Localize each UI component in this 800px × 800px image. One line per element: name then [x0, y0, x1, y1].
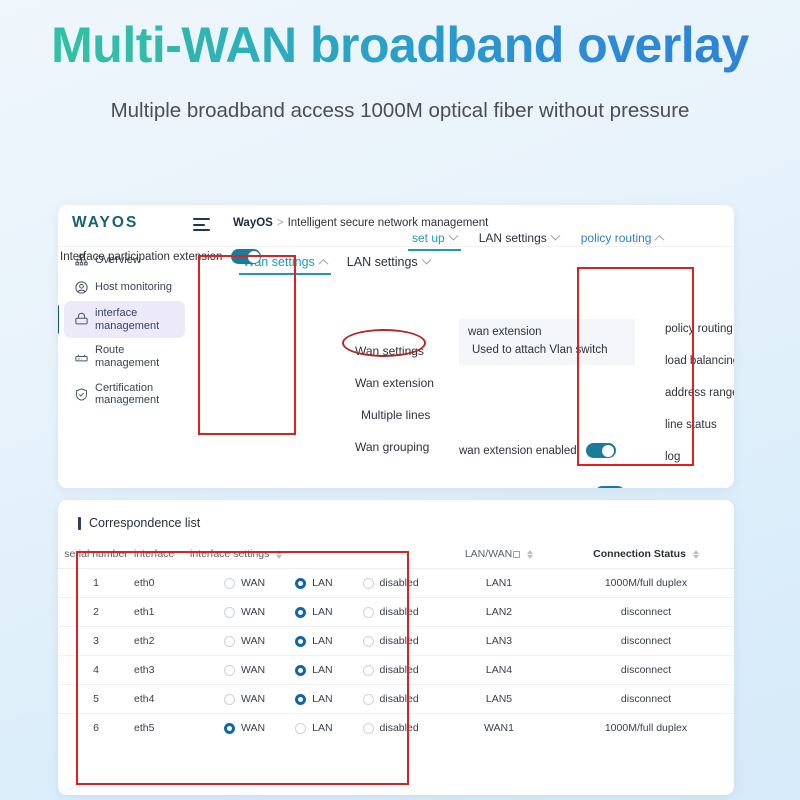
wan-extension-card-header: wan extension Used to attach Vlan switch [459, 319, 635, 365]
user-circle-icon [74, 280, 89, 295]
wan-extension-enabled-row: wan extension enabled [459, 443, 616, 458]
interface-participation-extension-toggle-left[interactable] [231, 249, 261, 264]
sidebar-item-label: Route management [95, 344, 177, 369]
cell-interface-settings: WANLANdisabled [190, 714, 440, 743]
console-content: Wan settings LAN settings Wan settings W… [191, 247, 734, 488]
wan-extension-enabled-toggle[interactable] [586, 443, 616, 458]
cell-connection-status: disconnect [558, 656, 734, 685]
interface-participation-extension-toggle[interactable] [595, 486, 625, 488]
col-connection-status[interactable]: Connection Status [558, 544, 734, 569]
radio-label: WAN [241, 635, 265, 647]
cell-connection-status: disconnect [558, 685, 734, 714]
menu-item-address-range[interactable]: address range [651, 377, 734, 409]
menu-item-load-balancing[interactable]: load balancing [651, 345, 734, 377]
radio-option-disabled[interactable]: disabled [363, 606, 419, 618]
radio-option-lan[interactable]: LAN [295, 577, 332, 589]
settings-tab-row: set up LAN settings policy routing [412, 231, 663, 251]
menu-item-wan-extension[interactable]: Wan extension [351, 367, 447, 399]
radio-label: LAN [312, 635, 332, 647]
radio-label: disabled [380, 664, 419, 676]
cell-interface: eth0 [134, 569, 190, 598]
radio-option-wan[interactable]: WAN [224, 606, 265, 618]
radio-label: LAN [312, 577, 332, 589]
radio-option-disabled[interactable]: disabled [363, 635, 419, 647]
sidebar-item-interface-management[interactable]: interface management [64, 301, 185, 338]
correspondence-list-title: Correspondence list [58, 500, 734, 530]
sidebar-item-label: Certification management [95, 382, 177, 407]
col-interface: interface [134, 544, 190, 569]
tab-set-up[interactable]: set up [412, 231, 457, 251]
radio-label: disabled [380, 577, 419, 589]
sort-icon[interactable] [276, 550, 282, 559]
cell-connection-status: 1000M/full duplex [558, 714, 734, 743]
cell-interface-settings: WANLANdisabled [190, 685, 440, 714]
radio-option-wan[interactable]: WAN [224, 635, 265, 647]
cell-serial-number: 4 [58, 656, 134, 685]
radio-label: disabled [380, 606, 419, 618]
radio-option-disabled[interactable]: disabled [363, 693, 419, 705]
menu-item-policy-routing[interactable]: policy routing [651, 313, 734, 345]
radio-option-wan[interactable]: WAN [224, 693, 265, 705]
tab-lan-settings[interactable]: LAN settings [347, 255, 430, 275]
radio-label: LAN [312, 693, 332, 705]
cell-interface-settings: WANLANdisabled [190, 569, 440, 598]
square-glyph-icon [513, 551, 520, 558]
radio-dot-icon[interactable] [363, 665, 374, 676]
title-accent-bar [78, 517, 81, 530]
tab-label: set up [412, 231, 445, 245]
menu-item-line-status[interactable]: line status [651, 409, 734, 441]
shield-check-icon [74, 387, 89, 402]
cell-lan-wan: LAN3 [440, 627, 558, 656]
radio-label: LAN [312, 664, 332, 676]
col-label: LAN/WAN [465, 548, 512, 560]
breadcrumb-current: Intelligent secure network management [288, 217, 489, 229]
radio-dot-icon[interactable] [295, 665, 306, 676]
radio-label: disabled [380, 693, 419, 705]
radio-label: WAN [241, 577, 265, 589]
col-serial-number: serial number [58, 544, 134, 569]
cell-connection-status: disconnect [558, 627, 734, 656]
table-row: 4eth3WANLANdisabledLAN4disconnect [58, 656, 734, 685]
radio-dot-icon[interactable] [224, 607, 235, 618]
table-header-row: serial number interface interface settin… [58, 544, 734, 569]
table-row: 3eth2WANLANdisabledLAN3disconnect [58, 627, 734, 656]
wan-tab-row: Wan settings LAN settings [191, 247, 734, 275]
tab-label: policy routing [581, 231, 652, 245]
cell-interface: eth3 [134, 656, 190, 685]
hero-section: Multi-WAN broadband overlay Multiple bro… [0, 0, 800, 123]
menu-item-wan-grouping[interactable]: Wan grouping [351, 431, 447, 463]
cell-serial-number: 6 [58, 714, 134, 743]
toggle-label: wan extension enabled [459, 445, 577, 457]
cell-lan-wan: LAN1 [440, 569, 558, 598]
wan-settings-dropdown-menu: Wan settings Wan extension Multiple line… [351, 335, 447, 463]
policy-routing-dropdown-menu: policy routing load balancing address ra… [651, 313, 734, 473]
cell-lan-wan: LAN2 [440, 598, 558, 627]
cell-interface-settings: WANLANdisabled [190, 656, 440, 685]
wan-extension-title: wan extension [468, 326, 626, 338]
cell-serial-number: 2 [58, 598, 134, 627]
cell-interface: eth2 [134, 627, 190, 656]
chevron-up-icon [655, 234, 665, 244]
table-body: 1eth0WANLANdisabledLAN11000M/full duplex… [58, 569, 734, 743]
radio-option-lan[interactable]: LAN [295, 606, 332, 618]
table-row: 6eth5WANLANdisabledWAN11000M/full duplex [58, 714, 734, 743]
radio-option-wan[interactable]: WAN [224, 722, 265, 734]
interface-table: serial number interface interface settin… [58, 544, 734, 742]
radio-label: disabled [380, 635, 419, 647]
radio-label: WAN [241, 693, 265, 705]
cell-interface-settings: WANLANdisabled [190, 598, 440, 627]
radio-dot-icon[interactable] [295, 578, 306, 589]
radio-dot-icon[interactable] [295, 636, 306, 647]
radio-dot-icon[interactable] [295, 694, 306, 705]
breadcrumb-separator-icon: > [277, 217, 284, 229]
menu-item-multiple-lines[interactable]: Multiple lines [351, 399, 447, 431]
chevron-up-icon [318, 258, 328, 268]
cell-connection-status: disconnect [558, 598, 734, 627]
sort-icon[interactable] [527, 550, 533, 559]
wayos-logo: WAYOS [72, 214, 138, 232]
radio-option-lan[interactable]: LAN [295, 664, 332, 676]
radio-option-disabled[interactable]: disabled [363, 722, 419, 734]
tab-lan-settings-right[interactable]: LAN settings [479, 231, 559, 251]
cell-serial-number: 5 [58, 685, 134, 714]
correspondence-list-panel: Correspondence list serial number interf… [58, 500, 734, 795]
radio-label: LAN [312, 606, 332, 618]
radio-option-lan[interactable]: LAN [295, 635, 332, 647]
radio-dot-icon[interactable] [363, 607, 374, 618]
table-row: 2eth1WANLANdisabledLAN2disconnect [58, 598, 734, 627]
table-row: 5eth4WANLANdisabledLAN5disconnect [58, 685, 734, 714]
radio-option-disabled[interactable]: disabled [363, 577, 419, 589]
sidebar-item-route-management[interactable]: Route management [64, 338, 185, 375]
radio-label: disabled [380, 722, 419, 734]
cell-connection-status: 1000M/full duplex [558, 569, 734, 598]
radio-dot-icon[interactable] [363, 636, 374, 647]
sort-icon[interactable] [693, 550, 699, 559]
breadcrumb: WayOS>Intelligent secure network managem… [233, 217, 488, 229]
radio-dot-icon[interactable] [224, 578, 235, 589]
radio-label: WAN [241, 722, 265, 734]
menu-item-wan-settings[interactable]: Wan settings [351, 335, 447, 367]
interface-icon [74, 312, 89, 327]
chevron-down-icon [421, 254, 431, 264]
tab-label: LAN settings [479, 231, 547, 245]
cell-serial-number: 1 [58, 569, 134, 598]
radio-dot-icon[interactable] [363, 578, 374, 589]
radio-dot-icon[interactable] [363, 694, 374, 705]
wan-extension-card: wan extension Used to attach Vlan switch [459, 319, 635, 365]
tab-policy-routing[interactable]: policy routing [581, 231, 664, 251]
sidebar-item-certification-management[interactable]: Certification management [64, 376, 185, 413]
radio-dot-icon[interactable] [363, 723, 374, 734]
radio-dot-icon[interactable] [224, 694, 235, 705]
radio-dot-icon[interactable] [295, 607, 306, 618]
wan-extension-desc: Used to attach Vlan switch [468, 344, 626, 356]
radio-option-wan[interactable]: WAN [224, 577, 265, 589]
page-subtitle: Multiple broadband access 1000M optical … [0, 99, 800, 123]
toggle-label: Interface participation extension [60, 251, 222, 263]
col-interface-settings[interactable]: interface settings [190, 544, 440, 569]
radio-dot-icon[interactable] [295, 723, 306, 734]
sidebar-item-label: Host monitoring [95, 281, 172, 294]
radio-option-lan[interactable]: LAN [295, 722, 332, 734]
radio-label: WAN [241, 664, 265, 676]
cell-interface: eth5 [134, 714, 190, 743]
breadcrumb-root[interactable]: WayOS [233, 217, 273, 229]
cell-interface: eth1 [134, 598, 190, 627]
radio-dot-icon[interactable] [224, 636, 235, 647]
page-title: Multi-WAN broadband overlay [0, 18, 800, 73]
cell-serial-number: 3 [58, 627, 134, 656]
cell-lan-wan: LAN5 [440, 685, 558, 714]
chevron-down-icon [448, 230, 458, 240]
col-label: interface settings [190, 548, 269, 560]
table-row: 1eth0WANLANdisabledLAN11000M/full duplex [58, 569, 734, 598]
chevron-down-icon [550, 230, 560, 240]
radio-label: LAN [312, 722, 332, 734]
sidebar: Overview Host monitoring interface manag… [58, 247, 191, 488]
radio-option-wan[interactable]: WAN [224, 664, 265, 676]
cell-lan-wan: LAN4 [440, 656, 558, 685]
sidebar-item-host-monitoring[interactable]: Host monitoring [64, 274, 185, 301]
col-lan-wan[interactable]: LAN/WAN [440, 544, 558, 569]
card-title-label: Correspondence list [89, 516, 200, 530]
cell-interface: eth4 [134, 685, 190, 714]
interface-participation-extension-row-left: Interface participation extension [60, 249, 261, 264]
toggle-label: Interface participation extension [424, 488, 586, 489]
radio-dot-icon[interactable] [224, 723, 235, 734]
router-icon [74, 349, 89, 364]
col-label: Connection Status [593, 548, 686, 560]
radio-dot-icon[interactable] [224, 665, 235, 676]
radio-option-lan[interactable]: LAN [295, 693, 332, 705]
tab-label: LAN settings [347, 255, 418, 269]
cell-lan-wan: WAN1 [440, 714, 558, 743]
radio-option-disabled[interactable]: disabled [363, 664, 419, 676]
menu-item-log[interactable]: log [651, 441, 734, 473]
radio-label: WAN [241, 606, 265, 618]
hamburger-menu-icon[interactable] [193, 218, 210, 235]
cell-interface-settings: WANLANdisabled [190, 627, 440, 656]
sidebar-item-label: interface management [95, 307, 177, 332]
interface-participation-extension-row-right: Interface participation extension [424, 486, 625, 488]
